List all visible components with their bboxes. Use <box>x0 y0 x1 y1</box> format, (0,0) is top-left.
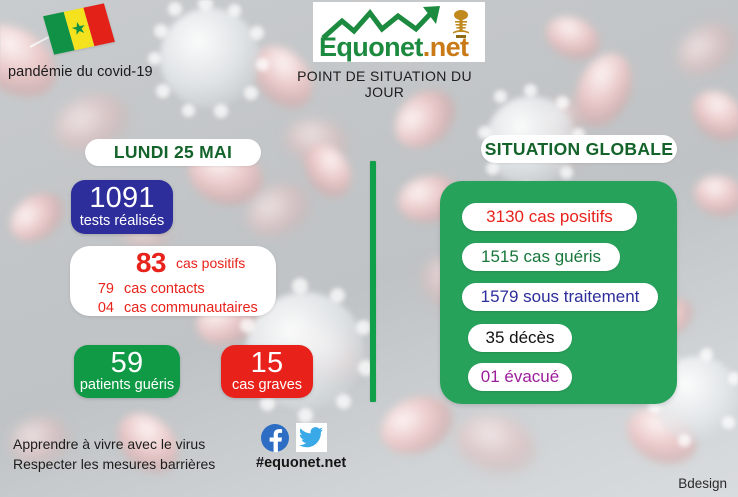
daily-contacts-row: 79 cas contacts <box>70 279 276 298</box>
tests-value: 1091 <box>89 184 154 214</box>
twitter-bird-glyph <box>299 427 324 448</box>
daily-positive-card: 83 cas positifs 79 cas contacts 04 cas c… <box>70 246 276 316</box>
facebook-icon[interactable] <box>261 424 289 452</box>
page-subtitle: POINT DE SITUATION DU JOUR <box>277 68 492 100</box>
global-item-recovered: 1515 cas guéris <box>462 243 620 271</box>
daily-community-row: 04 cas communautaires <box>70 298 276 317</box>
designer-credit: Bdesign <box>678 476 727 491</box>
equonet-logo[interactable]: Equonet.net <box>313 2 485 62</box>
severe-value: 15 <box>251 349 284 379</box>
daily-contacts-value: 79 <box>70 281 114 297</box>
global-title-pill: SITUATION GLOBALE <box>481 135 677 163</box>
global-situation-panel: 3130 cas positifs 1515 cas guéris 1579 s… <box>440 181 677 404</box>
global-item-evacuated: 01 évacué <box>468 363 572 391</box>
global-item-positive: 3130 cas positifs <box>462 203 637 231</box>
recovered-caption: patients guéris <box>80 377 174 394</box>
footer-line-2: Respecter les mesures barrières <box>13 454 215 474</box>
senegal-flag-icon <box>30 6 116 62</box>
pandemic-label: pandémie du covid-19 <box>8 64 153 80</box>
severe-caption: cas graves <box>232 377 302 394</box>
facebook-glyph <box>261 424 289 452</box>
flag-bands <box>43 3 115 54</box>
daily-positive-row: 83 cas positifs <box>70 248 276 278</box>
daily-positive-value: 83 <box>70 247 166 279</box>
tests-caption: tests réalisés <box>80 213 165 230</box>
recovered-value: 59 <box>111 349 144 379</box>
severe-stat-box: 15 cas graves <box>221 345 313 398</box>
global-item-deaths: 35 décès <box>468 324 572 352</box>
global-item-treatment: 1579 sous traitement <box>462 283 658 311</box>
twitter-icon[interactable] <box>296 423 327 452</box>
vertical-divider <box>370 161 376 402</box>
logo-tld: .net <box>423 32 469 62</box>
logo-name: Equonet <box>319 32 423 62</box>
daily-community-label: cas communautaires <box>124 300 258 316</box>
global-title: SITUATION GLOBALE <box>485 139 674 160</box>
tests-stat-box: 1091 tests réalisés <box>71 180 173 234</box>
daily-positive-label: cas positifs <box>176 255 245 271</box>
daily-contacts-label: cas contacts <box>124 281 205 297</box>
date-title: LUNDI 25 MAI <box>114 142 232 163</box>
hashtag-label: #equonet.net <box>256 455 346 471</box>
recovered-stat-box: 59 patients guéris <box>74 345 180 398</box>
date-title-pill: LUNDI 25 MAI <box>85 139 261 166</box>
footer-line-1: Apprendre à vivre avec le virus <box>13 434 215 454</box>
infographic-canvas: pandémie du covid-19 Equonet.net POINT D… <box>0 0 738 497</box>
daily-community-value: 04 <box>70 300 114 316</box>
logo-wordmark: Equonet.net <box>319 34 481 61</box>
footer-message: Apprendre à vivre avec le virus Respecte… <box>13 434 215 475</box>
